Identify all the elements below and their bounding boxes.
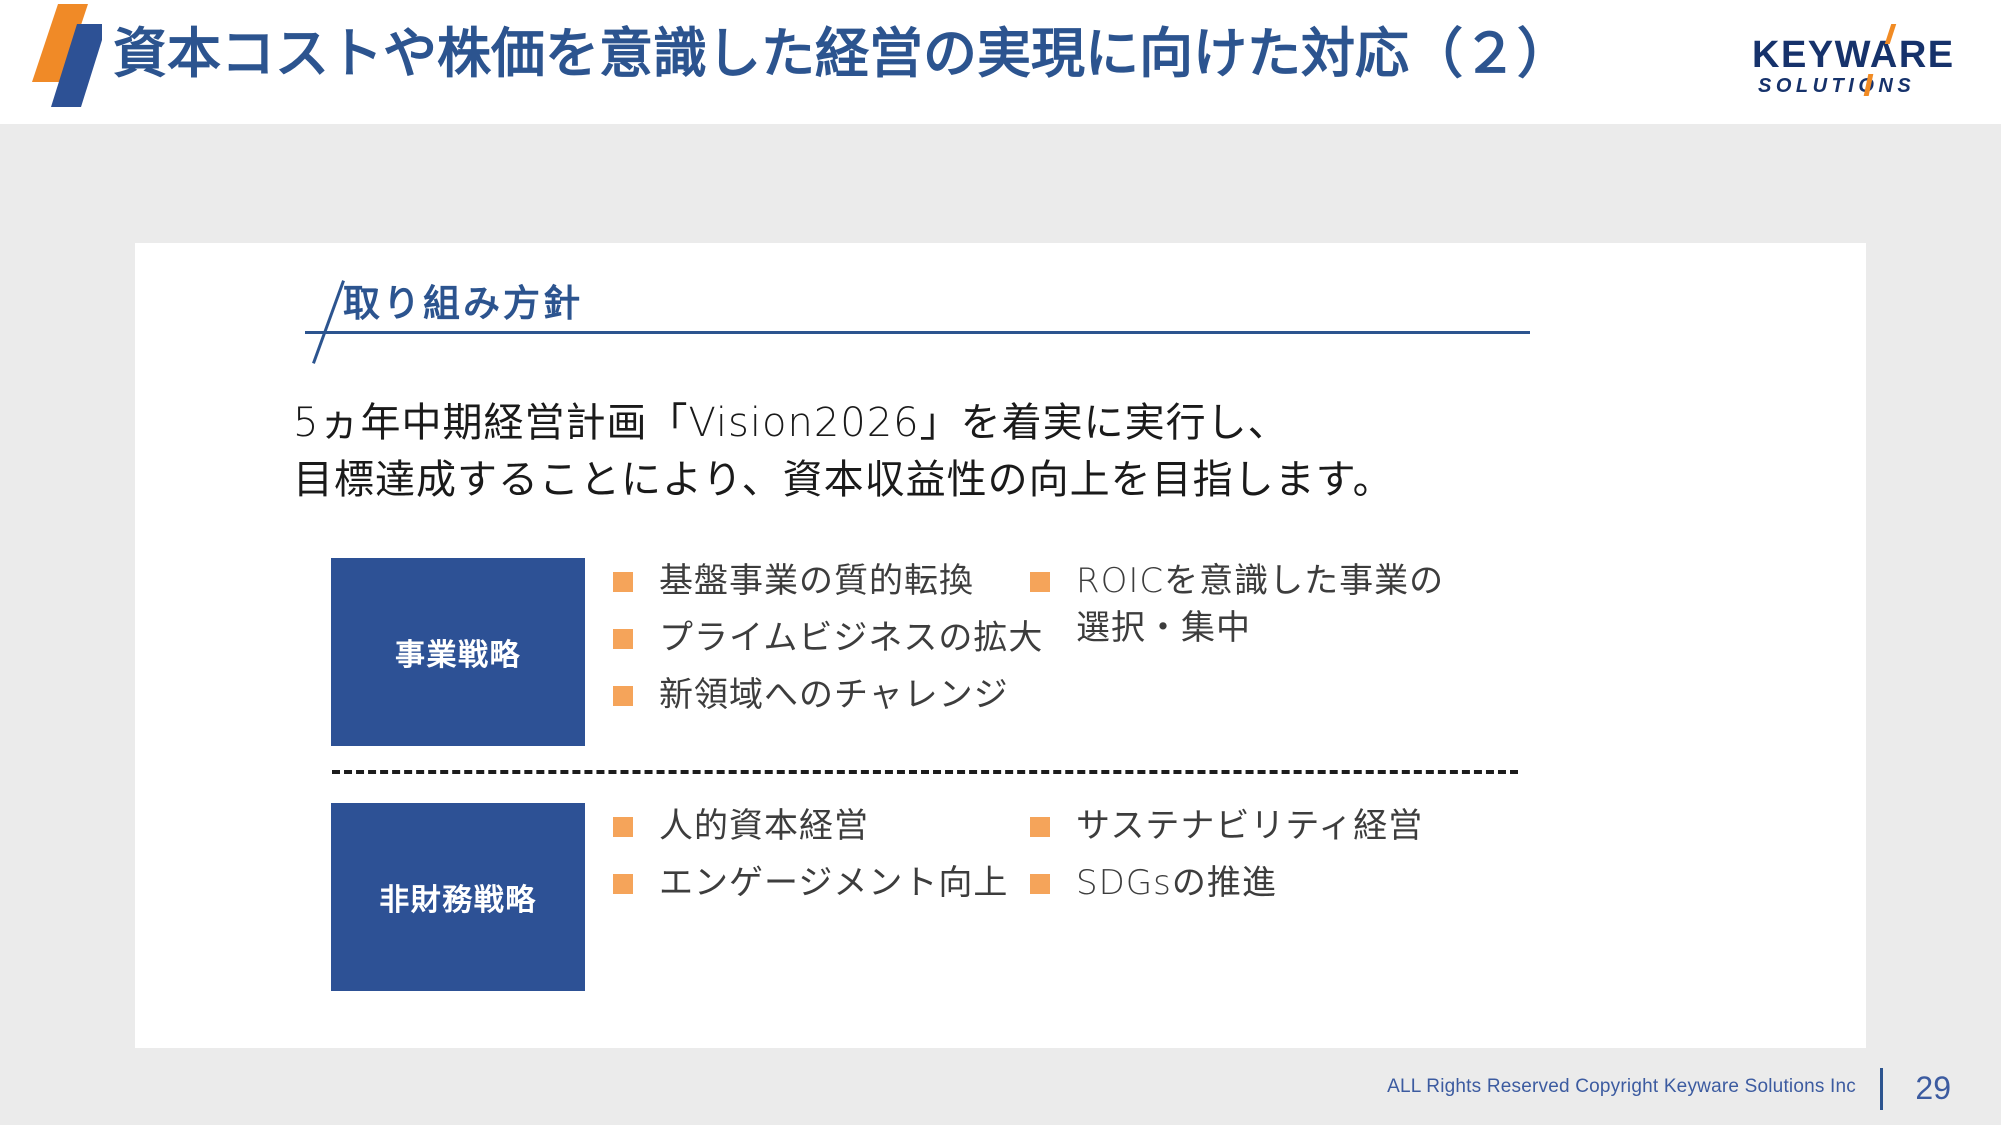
list-item: サステナビリティ経営 [1030, 803, 1550, 850]
section-heading-rule [305, 331, 1530, 334]
list-item: 新領域へのチャレンジ [613, 672, 1113, 719]
lead-line-2: 目標達成することにより、資本収益性の向上を目指します。 [293, 452, 1394, 509]
list-item: ROICを意識した事業の 選択・集中 [1030, 558, 1550, 652]
content-card: 取り組み方針 5ヵ年中期経営計画「Vision2026」を着実に実行し、 目標達… [135, 243, 1866, 1048]
logo-mark-icon [22, 4, 102, 114]
lead-line-1: 5ヵ年中期経営計画「Vision2026」を着実に実行し、 [293, 395, 1394, 452]
footer-separator [1880, 1068, 1883, 1110]
slide-header: 資本コストや株価を意識した経営の実現に向けた対応（２） KEYWARE SOLU… [0, 0, 2001, 124]
page-title: 資本コストや株価を意識した経営の実現に向けた対応（２） [113, 14, 1571, 94]
badge-business-strategy: 事業戦略 [331, 558, 585, 746]
square-bullet-icon [1030, 572, 1050, 592]
section-divider [332, 770, 1518, 774]
square-bullet-icon [613, 629, 633, 649]
section-heading-group: 取り組み方針 [305, 273, 1545, 373]
slide-footer: ALL Rights Reserved Copyright Keyware So… [0, 1076, 2001, 1125]
list-item: SDGsの推進 [1030, 860, 1550, 907]
brand-name: KEYWARE [1752, 36, 1955, 74]
square-bullet-icon [1030, 874, 1050, 894]
section-heading-label: 取り組み方針 [343, 273, 583, 327]
list-item-label: エンゲージメント向上 [659, 860, 1008, 907]
keyware-solutions-logo: KEYWARE SOLUTIONS [1752, 22, 1974, 100]
square-bullet-icon [613, 817, 633, 837]
square-bullet-icon [613, 686, 633, 706]
list-item-label: SDGsの推進 [1076, 860, 1277, 907]
square-bullet-icon [1030, 817, 1050, 837]
list-item-label: ROICを意識した事業の 選択・集中 [1076, 558, 1444, 652]
list-item-label: 新領域へのチャレンジ [659, 672, 1009, 719]
badge-label: 事業戦略 [395, 630, 521, 674]
footer-copyright: ALL Rights Reserved Copyright Keyware So… [1387, 1076, 1856, 1098]
bullet-column-right: ROICを意識した事業の 選択・集中 [1030, 558, 1550, 662]
page-number: 29 [1915, 1070, 1951, 1107]
list-item-label: 人的資本経営 [659, 803, 869, 850]
square-bullet-icon [613, 572, 633, 592]
square-bullet-icon [613, 874, 633, 894]
bullet-column-right: サステナビリティ経営 SDGsの推進 [1030, 803, 1550, 917]
badge-label: 非財務戦略 [379, 875, 537, 919]
strategy-row-non-financial: 非財務戦略 人的資本経営 エンゲージメント向上 サステナビリティ経営 SDGsの… [135, 803, 1866, 993]
badge-non-financial-strategy: 非財務戦略 [331, 803, 585, 991]
strategy-row-business: 事業戦略 基盤事業の質的転換 プライムビジネスの拡大 新領域へのチャレンジ RO… [135, 558, 1866, 748]
list-item-label: 基盤事業の質的転換 [659, 558, 974, 605]
lead-paragraph: 5ヵ年中期経営計画「Vision2026」を着実に実行し、 目標達成することによ… [293, 395, 1394, 509]
list-item-label: サステナビリティ経営 [1076, 803, 1423, 850]
list-item-label: プライムビジネスの拡大 [659, 615, 1043, 662]
brand-tagline: SOLUTIONS [1758, 76, 1915, 96]
heading-slash-icon [312, 280, 345, 364]
